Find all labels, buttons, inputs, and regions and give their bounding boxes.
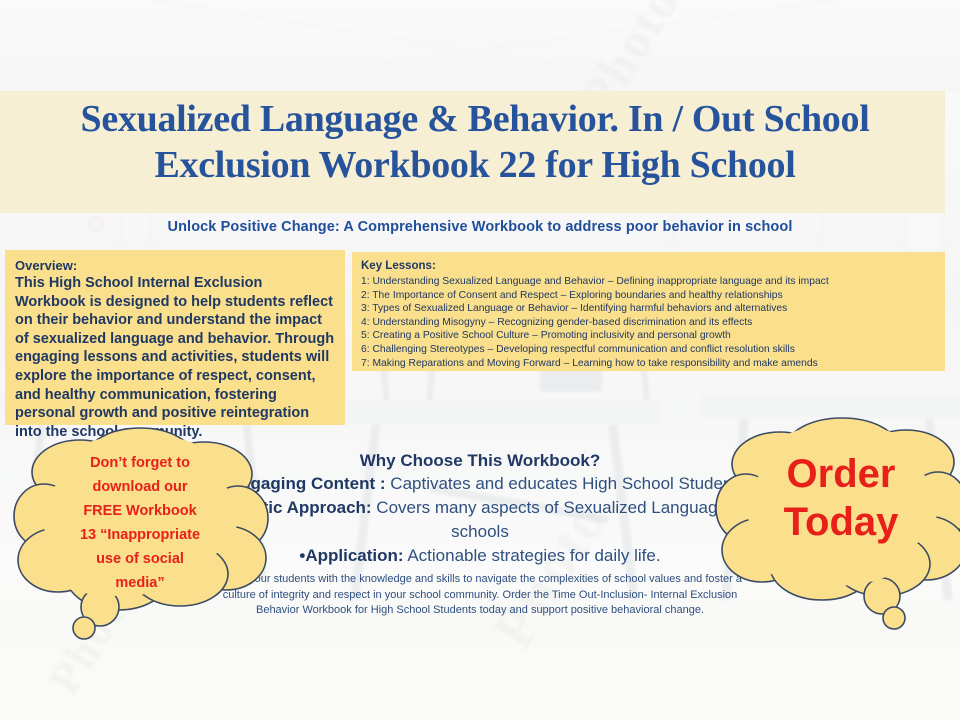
promo-section: Why Choose This Workbook? •Engaging Cont…: [200, 450, 760, 619]
key-lesson-item: 4: Understanding Misogyny – Recognizing …: [361, 316, 945, 330]
free-workbook-callout-text: Don’t forget to download our FREE Workbo…: [42, 451, 238, 595]
key-lesson-item: 1: Understanding Sexualized Language and…: [361, 275, 945, 289]
promo-bullet-2: •Holistic Approach: Covers many aspects …: [200, 496, 760, 544]
promo-bullet-3-text: Actionable strategies for daily life.: [404, 546, 661, 565]
callout-line-3: FREE Workbook: [42, 499, 238, 523]
page-title-line-1: Sexualized Language & Behavior. In / Out…: [0, 96, 950, 142]
promo-bullet-1-text: Captivates and educates High School Stud…: [386, 474, 738, 493]
page-title: Sexualized Language & Behavior. In / Out…: [0, 96, 950, 188]
promo-bullet-3-label: •Application:: [299, 546, 403, 565]
promo-bullet-3: •Application: Actionable strategies for …: [200, 544, 760, 568]
order-today-callout-text: Order Today: [748, 450, 934, 546]
key-lesson-item: 7: Making Reparations and Moving Forward…: [361, 357, 945, 371]
key-lessons-panel: Key Lessons: 1: Understanding Sexualized…: [352, 252, 945, 371]
page-subtitle: Unlock Positive Change: A Comprehensive …: [0, 219, 960, 235]
overview-body-text: This High School Internal Exclusion Work…: [15, 274, 335, 441]
callout-line-5: use of social: [42, 547, 238, 571]
order-line-2: Today: [748, 498, 934, 546]
order-today-callout[interactable]: Order Today: [722, 414, 960, 636]
key-lesson-item: 5: Creating a Positive School Culture – …: [361, 329, 945, 343]
key-lessons-heading: Key Lessons:: [361, 259, 945, 274]
page-title-line-2: Exclusion Workbook 22 for High School: [0, 142, 950, 188]
promo-bullet-1: •Engaging Content : Captivates and educa…: [200, 472, 760, 496]
order-line-1: Order: [748, 450, 934, 498]
free-workbook-callout[interactable]: Don’t forget to download our FREE Workbo…: [14, 424, 266, 644]
promo-bullet-2-text: Covers many aspects of Sexualized Langua…: [372, 498, 745, 541]
callout-line-1: Don’t forget to: [42, 451, 238, 475]
key-lesson-item: 3: Types of Sexualized Language or Behav…: [361, 302, 945, 316]
key-lesson-item: 6: Challenging Stereotypes – Developing …: [361, 343, 945, 357]
overview-heading: Overview:: [15, 258, 335, 274]
key-lesson-item: 2: The Importance of Consent and Respect…: [361, 289, 945, 303]
callout-line-4: 13 “Inappropriate: [42, 523, 238, 547]
callout-line-2: download our: [42, 475, 238, 499]
promo-heading: Why Choose This Workbook?: [200, 450, 760, 472]
callout-line-6: media”: [42, 571, 238, 595]
poster-canvas: Photo Photo Photo Sexualized Language & …: [0, 0, 960, 720]
promo-closing-note: Equip your students with the knowledge a…: [200, 572, 760, 619]
overview-panel: Overview: This High School Internal Excl…: [5, 250, 345, 425]
